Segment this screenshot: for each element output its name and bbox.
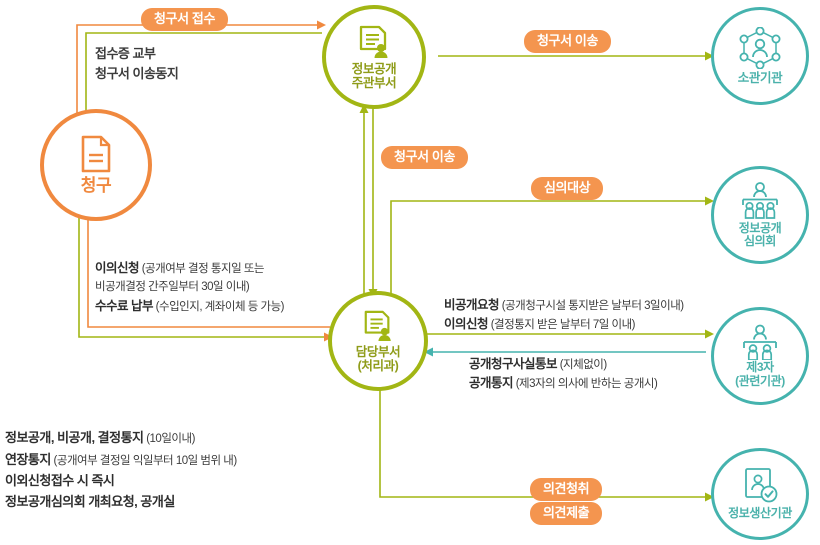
note-third-party-out-line2-strong: 이의신청 bbox=[444, 317, 488, 331]
note-bottom-left-line3-strong: 이외신청접수 시 즉시 bbox=[5, 473, 114, 488]
note-third-party-out-line1: 비공개요청 (공개청구시설 통지받은 날부터 3일이내) bbox=[444, 296, 684, 315]
node-committee-label: 정보공개 심의회 bbox=[739, 222, 782, 249]
note-bottom-left-line4: 정보공개심의회 개최요청, 공개실 bbox=[5, 491, 237, 512]
verified-document-icon bbox=[741, 467, 779, 505]
note-objection-line3-strong: 수수료 납부 bbox=[95, 299, 153, 313]
network-people-icon bbox=[738, 27, 782, 69]
note-receipt-line1: 접수증 교부 bbox=[95, 44, 178, 64]
pill-hear-opinion[interactable]: 의견청취 bbox=[530, 478, 602, 501]
note-third-party-in-line1: 공개청구사실통보 (지체없이) bbox=[469, 355, 657, 374]
node-dept-handler[interactable]: 담당부서 (처리과) bbox=[328, 291, 428, 391]
pill-review-target[interactable]: 심의대상 bbox=[531, 177, 603, 200]
note-third-party-out-line1-strong: 비공개요청 bbox=[444, 298, 499, 312]
note-bottom-left-line3: 이외신청접수 시 즉시 bbox=[5, 470, 237, 491]
wire-handler-to-committee bbox=[391, 201, 706, 300]
node-claim[interactable]: 청구 bbox=[40, 109, 152, 221]
note-bottom-left-line2: 연장통지 (공개여부 결정일 익일부터 10일 범위 내) bbox=[5, 449, 237, 471]
note-third-party-in: 공개청구사실통보 (지체없이) 공개통지 (제3자의 의사에 반하는 공개시) bbox=[469, 355, 657, 394]
node-third-party-label: 제3자 (관련기관) bbox=[735, 361, 785, 388]
note-third-party-in-line1-rest: (지체없이) bbox=[557, 359, 607, 371]
meeting-people-icon bbox=[739, 324, 781, 360]
note-third-party-in-line2-strong: 공개통지 bbox=[469, 376, 513, 390]
node-producer[interactable]: 정보생산기관 bbox=[711, 448, 809, 540]
note-objection-line3: 수수료 납부 (수입인지, 계좌이체 등 가능) bbox=[95, 297, 284, 317]
node-dept-main-label: 정보공개 주관부서 bbox=[352, 62, 396, 90]
note-bottom-left-line2-strong: 연장통지 bbox=[5, 452, 51, 467]
note-bottom-left-line1-strong: 정보공개, 비공개, 결정통지 bbox=[5, 430, 144, 445]
note-third-party-out-line1-rest: (공개청구시설 통지받은 날부터 3일이내) bbox=[499, 300, 684, 312]
pill-submit-opinion[interactable]: 의견제출 bbox=[530, 502, 602, 525]
note-third-party-out-line2-rest: (결정통지 받은 날부터 7일 이내) bbox=[488, 319, 635, 331]
note-objection: 이의신청 (공개여부 결정 통지일 또는 비공개결정 간주일부터 30일 이내)… bbox=[95, 259, 284, 316]
note-third-party-in-line2: 공개통지 (제3자의 의사에 반하는 공개시) bbox=[469, 374, 657, 393]
note-third-party-in-line1-strong: 공개청구사실통보 bbox=[469, 357, 557, 371]
node-agency-label: 소관기관 bbox=[738, 71, 782, 85]
note-bottom-left-line2-rest: (공개여부 결정일 익일부터 10일 범위 내) bbox=[51, 455, 237, 467]
document-icon bbox=[81, 135, 111, 173]
document-person-icon bbox=[362, 310, 394, 342]
node-producer-label: 정보생산기관 bbox=[728, 507, 792, 520]
note-bottom-left-line1-rest: (10일이내) bbox=[144, 433, 195, 445]
note-receipt: 접수증 교부 청구서 이송동지 bbox=[95, 44, 178, 83]
note-objection-line3-rest: (수입인지, 계좌이체 등 가능) bbox=[153, 301, 284, 313]
note-objection-line1-strong: 이의신청 bbox=[95, 261, 139, 275]
note-bottom-left-line4-strong: 정보공개심의회 개최요청, 공개실 bbox=[5, 494, 175, 509]
note-objection-line1: 이의신청 (공개여부 결정 통지일 또는 bbox=[95, 259, 284, 279]
note-receipt-line2: 청구서 이송동지 bbox=[95, 64, 178, 84]
node-third-party[interactable]: 제3자 (관련기관) bbox=[711, 307, 809, 405]
note-third-party-out-line2: 이의신청 (결정통지 받은 날부터 7일 이내) bbox=[444, 315, 684, 334]
note-objection-line1-rest: (공개여부 결정 통지일 또는 bbox=[139, 263, 264, 275]
node-claim-label: 청구 bbox=[81, 176, 111, 195]
document-person-icon bbox=[357, 25, 391, 59]
note-bottom-left-line1: 정보공개, 비공개, 결정통지 (10일이내) bbox=[5, 427, 237, 449]
node-agency[interactable]: 소관기관 bbox=[711, 7, 809, 105]
note-third-party-in-line2-rest: (제3자의 의사에 반하는 공개시) bbox=[513, 378, 657, 390]
pill-transfer-request-handler[interactable]: 청구서 이송 bbox=[381, 146, 468, 169]
node-dept-handler-label: 담당부서 (처리과) bbox=[356, 345, 400, 373]
note-objection-line2: 비공개결정 간주일부터 30일 이내) bbox=[95, 279, 284, 297]
node-committee[interactable]: 정보공개 심의회 bbox=[711, 166, 809, 264]
note-third-party-out: 비공개요청 (공개청구시설 통지받은 날부터 3일이내) 이의신청 (결정통지 … bbox=[444, 296, 684, 335]
pill-transfer-request-agency[interactable]: 청구서 이송 bbox=[524, 30, 611, 53]
pill-receive-request[interactable]: 청구서 접수 bbox=[141, 8, 228, 31]
committee-icon bbox=[738, 182, 782, 220]
flowchart-canvas: 청구 정보공개 주관부서 담당부 bbox=[0, 0, 820, 545]
node-dept-main[interactable]: 정보공개 주관부서 bbox=[322, 5, 426, 109]
note-bottom-left: 정보공개, 비공개, 결정통지 (10일이내) 연장통지 (공개여부 결정일 익… bbox=[5, 427, 237, 512]
